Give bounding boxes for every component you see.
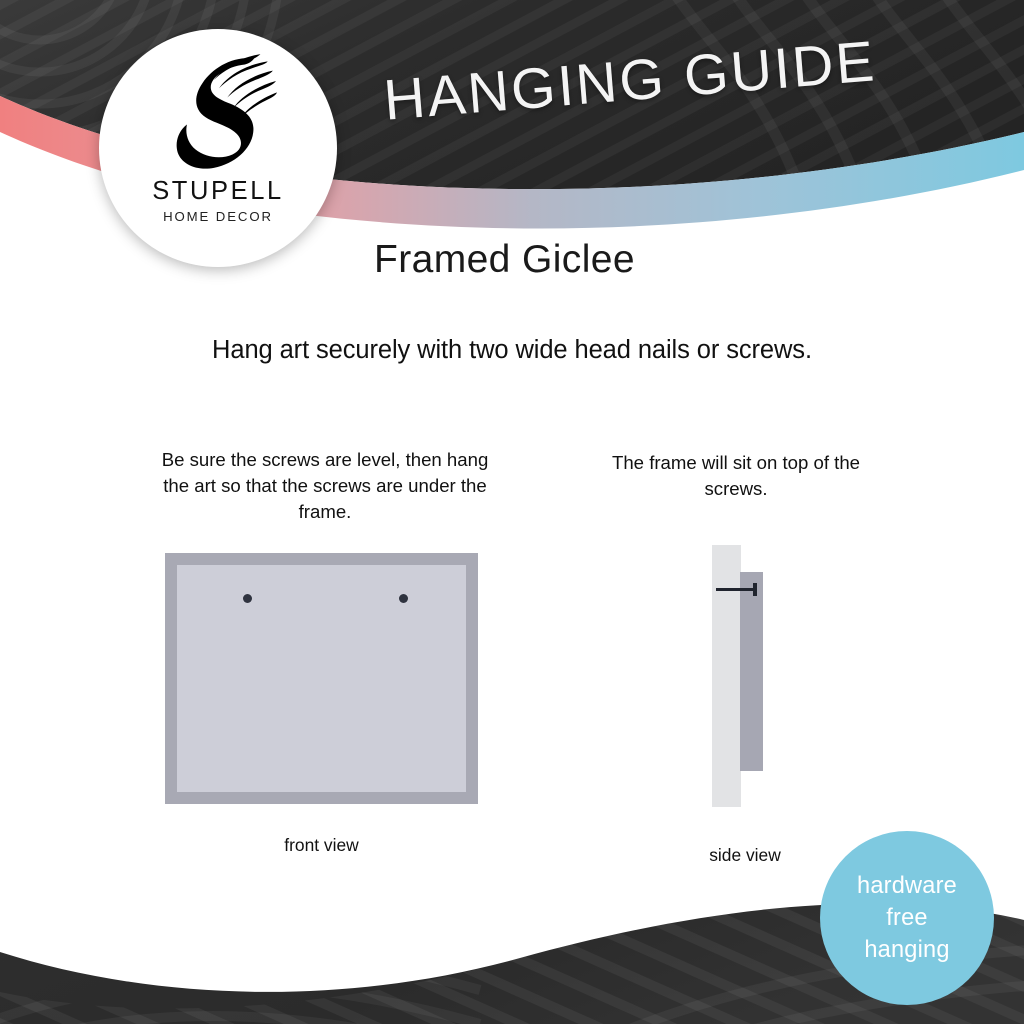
badge-line-3: hanging (864, 934, 949, 966)
front-view-instruction: Be sure the screws are level, then hang … (150, 447, 500, 525)
front-view-diagram (165, 553, 478, 804)
hardware-free-badge: hardware free hanging (820, 831, 994, 1005)
front-view-label: front view (165, 835, 478, 856)
screw-dot-left (243, 594, 252, 603)
brand-logo-badge: STUPELL HOME DECOR (99, 29, 337, 267)
side-view-label: side view (668, 845, 822, 866)
side-view-instruction: The frame will sit on top of the screws. (590, 450, 882, 502)
hanging-guide-page: STUPELL HOME DECOR HANGING GUIDE Framed … (0, 0, 1024, 1024)
product-type-label: Framed Giclee (374, 238, 635, 282)
brand-name: STUPELL (152, 177, 284, 206)
stupell-swan-s-logo-icon (155, 51, 281, 171)
page-title: HANGING GUIDE (368, 27, 892, 134)
side-view-frame (740, 572, 763, 771)
badge-line-2: free (886, 902, 927, 934)
nail-head-icon (753, 583, 757, 596)
main-instruction-text: Hang art securely with two wide head nai… (0, 336, 1024, 365)
side-view-wall (712, 545, 741, 807)
badge-line-1: hardware (857, 870, 957, 902)
nail-icon (716, 588, 756, 591)
brand-tagline: HOME DECOR (163, 209, 273, 224)
side-view-diagram (705, 545, 785, 810)
screw-dot-right (399, 594, 408, 603)
front-view-art-area (177, 565, 466, 792)
